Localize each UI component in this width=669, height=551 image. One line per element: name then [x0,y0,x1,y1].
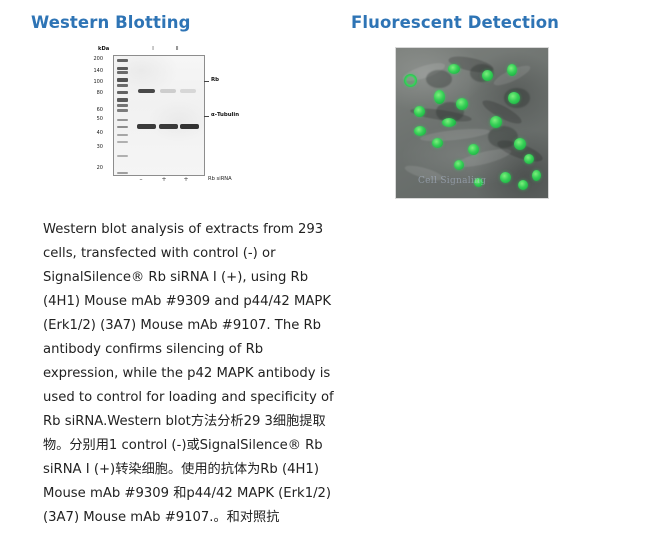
page-title-fluorescent-detection: Fluorescent Detection [351,12,654,34]
fluorescent-cell [524,154,534,164]
mw-tick-200: 200 [90,56,103,62]
mw-tick-20: 20 [90,165,103,171]
band-rb-lane2 [160,89,176,93]
fluorescent-cell [508,92,520,104]
western-blot-figure: kDa I II 200 140 100 80 60 50 40 30 20 [14,46,334,206]
panel-fluorescent-detection: Fluorescent Detection [334,0,654,206]
fluorescent-cell [454,160,464,170]
annotation-rb: Rb [211,77,219,83]
band-tubulin-lane2 [159,124,178,129]
fluorescent-cell [414,126,426,136]
fluorescence-figure: Cell Signaling [334,46,654,206]
band-tubulin-lane3 [180,124,199,129]
annotation-tubulin: α-Tubulin [211,112,239,118]
band-rb-lane3 [180,89,196,93]
sirna-lane1-value: – [136,176,146,183]
fluorescent-cell [404,74,417,87]
fluorescent-cell [482,70,493,81]
fluorescent-cell [500,172,511,183]
sirna-lane3-value: + [181,176,191,183]
fluorescent-cell [468,144,479,155]
product-figures-page: Western Blotting kDa I II 200 140 100 80… [0,0,669,551]
mw-tick-100: 100 [90,79,103,85]
mw-tick-40: 40 [90,130,103,136]
watermark: Cell Signaling [418,176,486,186]
lane-header-1: I [146,46,160,52]
band-tubulin-lane1 [137,124,156,129]
panel-western-blotting: Western Blotting kDa I II 200 140 100 80… [14,0,334,206]
fluorescent-cell [434,90,445,104]
fluorescent-cell [432,138,443,148]
gel-area [113,55,205,176]
blot-image: kDa I II 200 140 100 80 60 50 40 30 20 [88,46,223,186]
fluorescent-cell [490,116,502,128]
fluorescent-cell [532,170,541,181]
mw-tick-60: 60 [90,107,103,113]
fluorescent-cell [507,64,517,76]
fluorescent-cell [456,98,468,110]
kda-axis-label: kDa [98,46,109,52]
sirna-lane2-value: + [159,176,169,183]
mw-tick-30: 30 [90,144,103,150]
mw-ladder [117,56,128,175]
page-title-western-blotting: Western Blotting [31,12,334,34]
fluorescent-cell [518,180,528,190]
caption-western-blotting: Western blot analysis of extracts from 2… [43,218,335,530]
annotation-tick-rb [204,81,209,82]
sirna-treatment-row: – + + [113,176,205,185]
fluorescent-cell [442,118,456,127]
fluorescent-cell [514,138,526,150]
fluorescent-cell [448,64,460,74]
mw-tick-140: 140 [90,68,103,74]
fluorescent-cell [414,106,425,117]
mw-tick-80: 80 [90,90,103,96]
annotation-tick-tubulin [204,116,209,117]
mw-tick-50: 50 [90,116,103,122]
sirna-row-label: Rb siRNA [208,176,232,182]
micrograph-image: Cell Signaling [395,47,549,199]
lane-header-2: II [170,46,184,52]
band-rb-lane1 [138,89,155,93]
